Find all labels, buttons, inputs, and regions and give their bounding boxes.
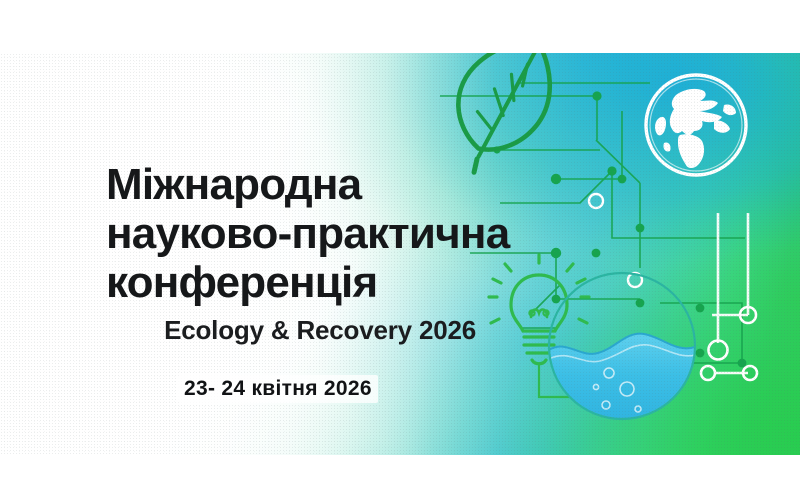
conference-dates: 23- 24 квітня 2026 (178, 375, 378, 403)
subtitle: Ecology & Recovery 2026 (106, 315, 576, 345)
headline-line-1: Міжнародна (106, 160, 576, 209)
circuit-rings-white-right (701, 307, 757, 380)
leaf-icon (446, 53, 568, 172)
headline-line-2: науково-практична (106, 209, 576, 258)
conference-banner: Міжнародна науково-практична конференція… (0, 0, 800, 496)
headline-line-3: конференція (106, 258, 576, 307)
headline-block: Міжнародна науково-практична конференція… (106, 160, 576, 345)
globe-icon (646, 75, 746, 175)
